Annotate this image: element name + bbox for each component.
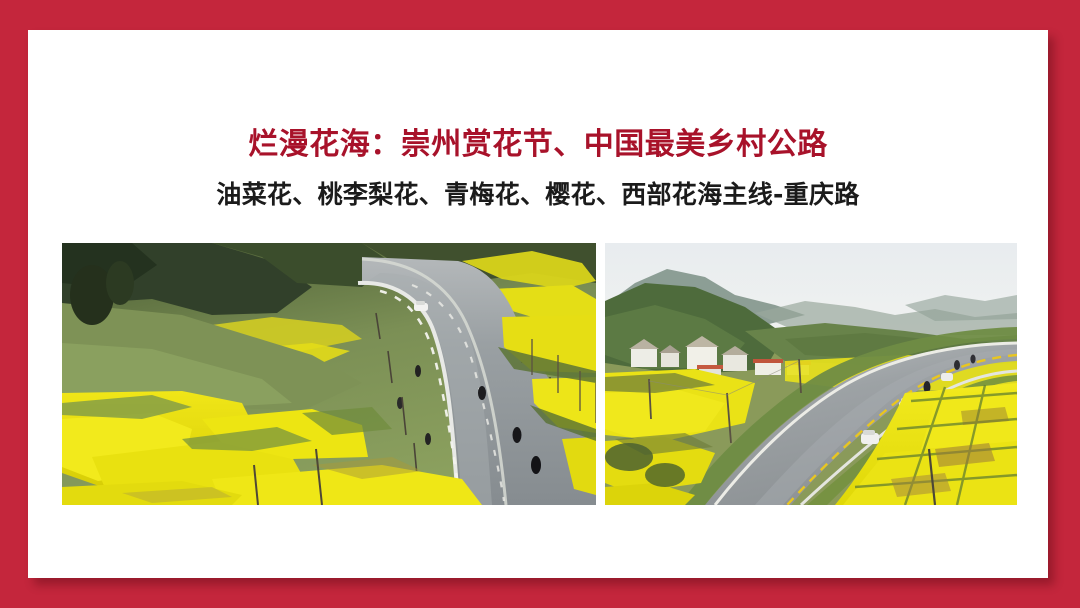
page-title: 烂漫花海：崇州赏花节、中国最美乡村公路: [28, 128, 1048, 162]
photo-left-image: [62, 243, 596, 505]
page-subtitle: 油菜花、桃李梨花、青梅花、樱花、西部花海主线-重庆路: [28, 180, 1048, 210]
photo-right: [605, 243, 1017, 505]
photo-right-image: [605, 243, 1017, 505]
photo-left: [62, 243, 596, 505]
slide-root: 烂漫花海：崇州赏花节、中国最美乡村公路 油菜花、桃李梨花、青梅花、樱花、西部花海…: [0, 0, 1080, 608]
slide-canvas: 烂漫花海：崇州赏花节、中国最美乡村公路 油菜花、桃李梨花、青梅花、樱花、西部花海…: [28, 30, 1048, 578]
